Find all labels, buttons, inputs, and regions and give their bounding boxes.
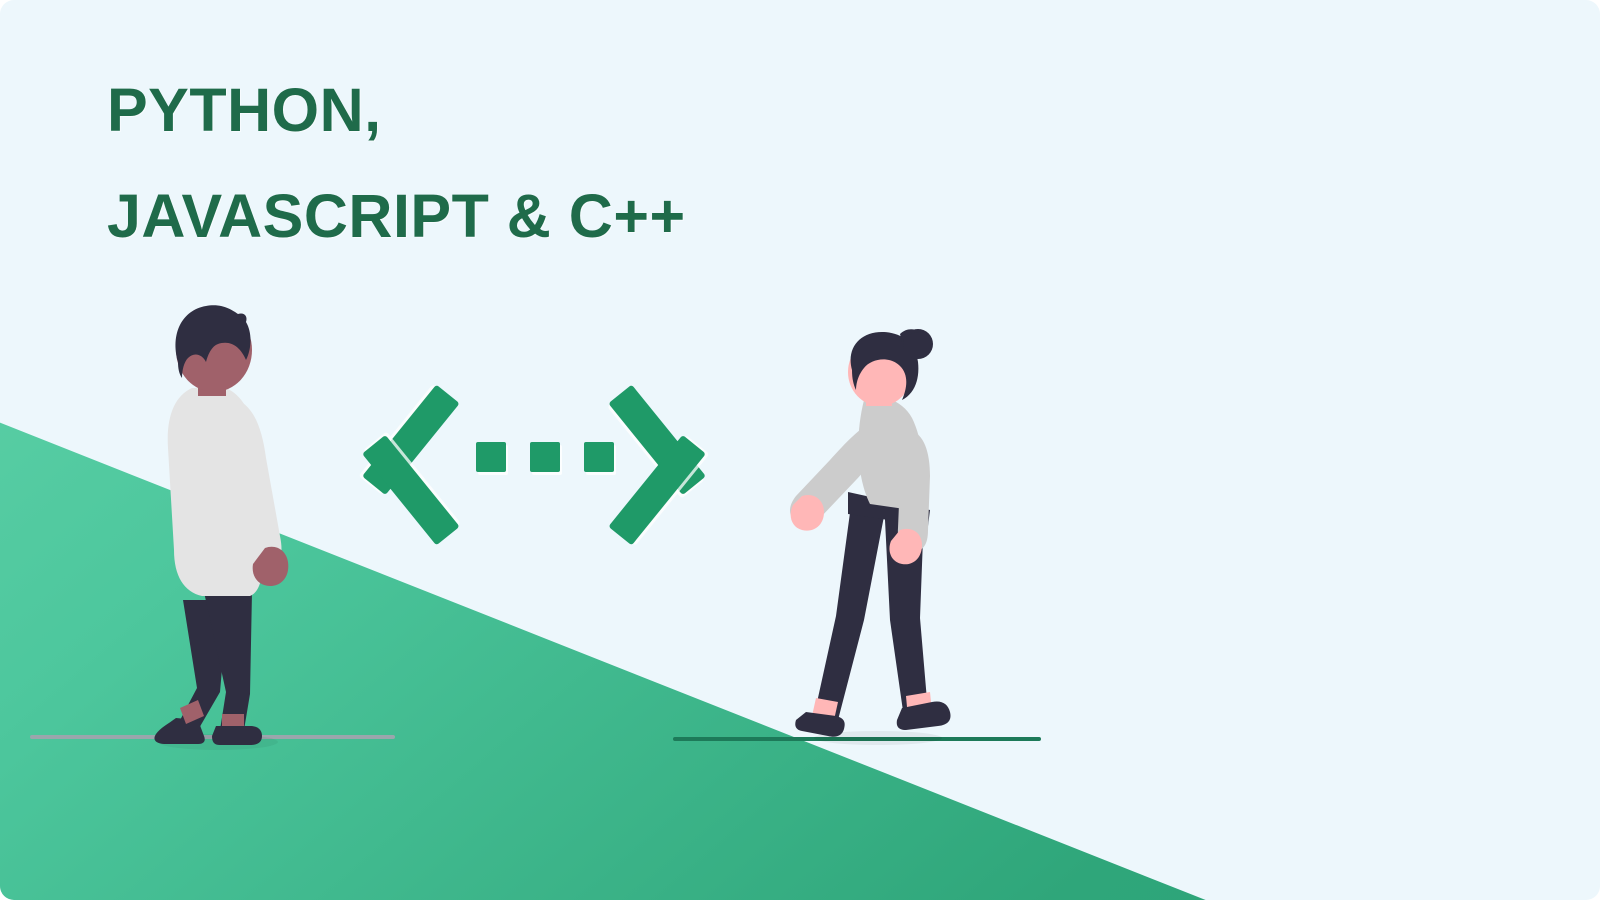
back-leg — [814, 498, 886, 720]
developer-figure-right — [760, 330, 980, 745]
ellipsis-dot-icon — [530, 442, 560, 472]
page-title: PYTHON, JAVASCRIPT & C++ — [107, 58, 1087, 269]
headline-line-1: PYTHON, — [107, 58, 1087, 164]
front-shoe — [212, 726, 262, 745]
code-brackets-graphic — [340, 368, 760, 562]
developer-figure-left — [140, 300, 320, 750]
ellipsis-dot-icon — [476, 442, 506, 472]
right-angle-bracket-icon — [602, 376, 752, 554]
banner-illustration: PYTHON, JAVASCRIPT & C++ — [0, 0, 1600, 900]
headline-line-2: JAVASCRIPT & C++ — [107, 164, 1087, 270]
back-shoe — [154, 718, 204, 744]
